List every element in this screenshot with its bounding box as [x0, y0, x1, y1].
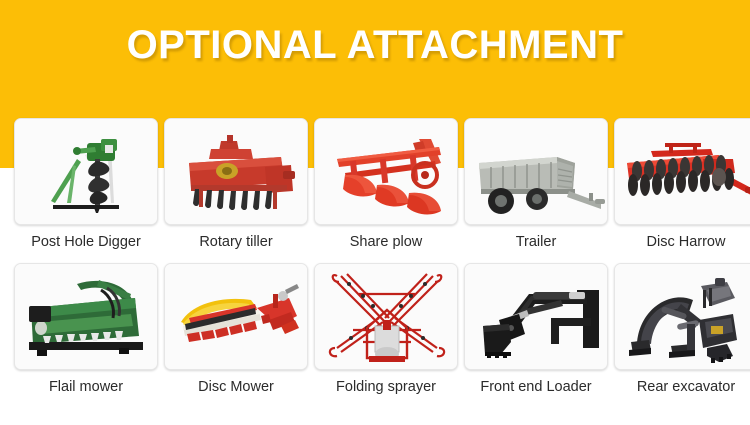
product-card[interactable] [14, 118, 158, 225]
product-card[interactable] [464, 263, 608, 370]
product-item-flail-mower[interactable]: Flail mower [14, 263, 158, 396]
optional-attachment-page: OPTIONAL ATTACHMENT [0, 0, 750, 425]
product-item-front-end-loader[interactable]: Front end Loader [464, 263, 608, 396]
product-card[interactable] [314, 263, 458, 370]
rear-excavator-image [615, 264, 750, 370]
trailer-image [465, 119, 608, 225]
folding-sprayer-image [315, 264, 458, 370]
product-label: Post Hole Digger [31, 233, 141, 251]
post-hole-digger-image [15, 119, 158, 225]
product-card[interactable] [314, 118, 458, 225]
product-label: Trailer [516, 233, 557, 251]
page-title: OPTIONAL ATTACHMENT [0, 22, 750, 68]
product-item-share-plow[interactable]: Share plow [314, 118, 458, 251]
rotary-tiller-image [165, 119, 308, 225]
share-plow-image [315, 119, 458, 225]
product-item-post-hole-digger[interactable]: Post Hole Digger [14, 118, 158, 251]
product-grid: Post Hole Digger [14, 118, 736, 408]
product-label: Disc Harrow [647, 233, 726, 251]
front-end-loader-image [465, 264, 608, 370]
product-item-folding-sprayer[interactable]: Folding sprayer [314, 263, 458, 396]
product-label: Rotary tiller [199, 233, 272, 251]
product-card[interactable] [464, 118, 608, 225]
product-card[interactable] [614, 118, 750, 225]
product-label: Folding sprayer [336, 378, 436, 396]
product-card[interactable] [164, 263, 308, 370]
product-row-2: Flail mower [14, 263, 736, 396]
product-item-rear-excavator[interactable]: Rear excavator [614, 263, 750, 396]
product-card[interactable] [614, 263, 750, 370]
disc-harrow-image [615, 119, 750, 225]
product-item-disc-harrow[interactable]: Disc Harrow [614, 118, 750, 251]
disc-mower-image [165, 264, 308, 370]
product-label: Rear excavator [637, 378, 735, 396]
product-item-trailer[interactable]: Trailer [464, 118, 608, 251]
product-card[interactable] [14, 263, 158, 370]
product-item-rotary-tiller[interactable]: Rotary tiller [164, 118, 308, 251]
product-card[interactable] [164, 118, 308, 225]
product-label: Disc Mower [198, 378, 274, 396]
flail-mower-image [15, 264, 158, 370]
product-label: Front end Loader [480, 378, 591, 396]
product-item-disc-mower[interactable]: Disc Mower [164, 263, 308, 396]
product-label: Flail mower [49, 378, 123, 396]
product-label: Share plow [350, 233, 423, 251]
product-row-1: Post Hole Digger [14, 118, 736, 251]
